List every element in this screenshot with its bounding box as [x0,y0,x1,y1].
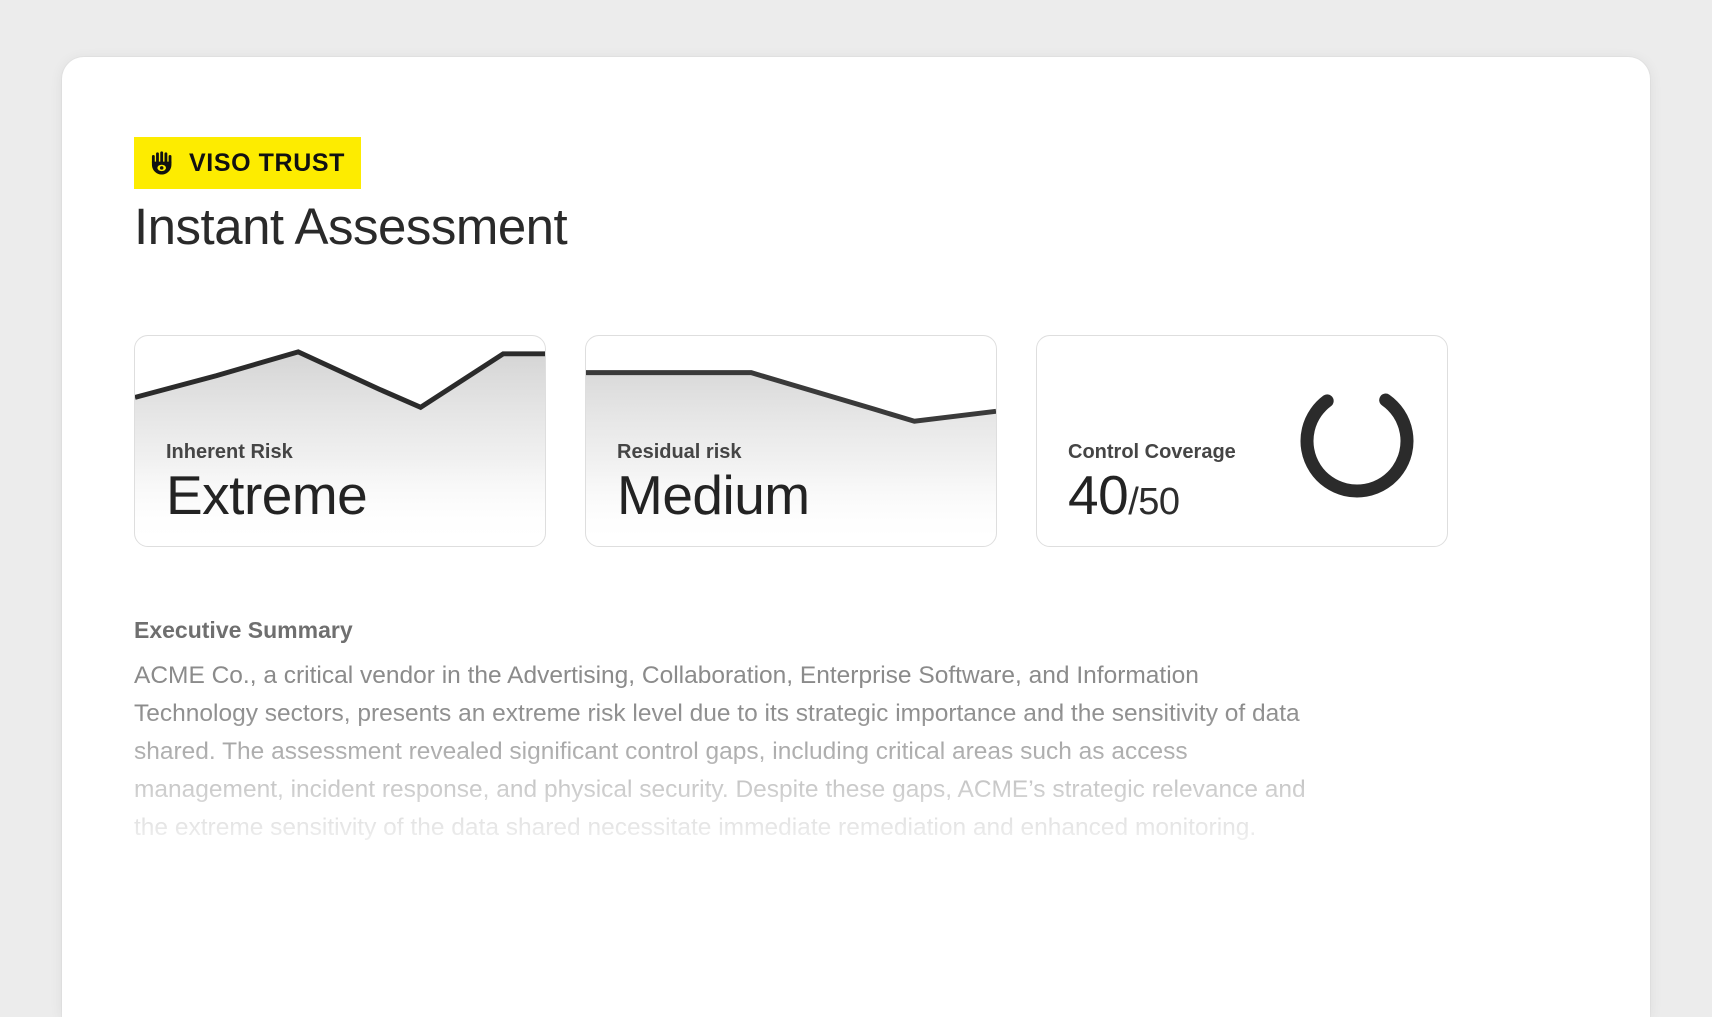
summary-body: ACME Co., a critical vendor in the Adver… [134,657,1314,847]
metric-text-inherent-risk: Inherent Risk Extreme [166,440,367,524]
metric-text-residual-risk: Residual risk Medium [617,440,810,524]
metric-card-control-coverage[interactable]: Control Coverage 40/50 [1036,335,1448,547]
metric-text-control-coverage: Control Coverage 40/50 [1068,440,1236,524]
coverage-numerator: 40 [1068,464,1128,526]
executive-summary: Executive Summary ACME Co., a critical v… [134,617,1314,847]
report-sheet: VISO TRUST Instant Assessment Inherent R… [62,57,1650,1017]
metric-label: Inherent Risk [166,440,367,464]
summary-heading: Executive Summary [134,617,1314,644]
control-coverage-ring [1295,379,1419,503]
metric-card-residual-risk[interactable]: Residual risk Medium [585,335,997,547]
metric-card-row: Inherent Risk Extreme Residual risk [134,335,1508,547]
hamsa-hand-eye-icon [148,148,178,178]
coverage-denominator: /50 [1128,481,1179,523]
metric-value: Extreme [166,466,367,524]
metric-label: Control Coverage [1068,440,1236,464]
metric-label: Residual risk [617,440,810,464]
metric-value: Medium [617,466,810,524]
brand-name: VISO TRUST [189,149,345,178]
metric-value: 40/50 [1068,466,1236,524]
viso-trust-logo: VISO TRUST [134,137,361,189]
metric-card-inherent-risk[interactable]: Inherent Risk Extreme [134,335,546,547]
page-title: Instant Assessment [134,197,567,256]
